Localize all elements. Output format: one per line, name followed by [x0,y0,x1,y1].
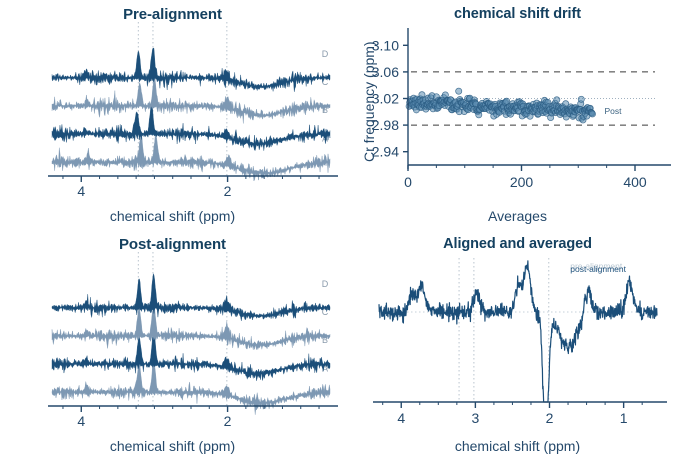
panel-aligned-and-averaged: Aligned and averaged pre-alignmentpost-a… [345,230,690,460]
scatter-points [406,88,596,123]
plot-post-alignment: ABCD42 [0,230,345,430]
plot-pre-alignment: ABCD42 [0,0,345,200]
x-tick-label: 4 [397,410,405,426]
panel-pre-alignment: Pre-alignment ABCD42 chemical shift (ppm… [0,0,345,230]
scatter-point [554,97,560,103]
averaged-spectrum-trace [379,261,657,402]
x-axis-title-drift: Averages [345,208,690,224]
panel-chemical-shift-drift: chemical shift drift Post2.942.983.023.0… [345,0,690,230]
panel-post-alignment: Post-alignment ABCD42 chemical shift (pp… [0,230,345,460]
mrs-alignment-figure: Pre-alignment ABCD42 chemical shift (ppm… [0,0,690,460]
plot-chemical-shift-drift: Post2.942.983.023.063.100200400 [345,0,690,200]
x-tick-label: 0 [404,174,412,190]
x-tick-label: 4 [77,413,85,429]
scatter-point [456,88,462,94]
x-tick-label: 2 [546,410,554,426]
annotation-post-alignment: post-alignment [570,264,626,274]
x-axis-title-pre: chemical shift (ppm) [0,208,345,224]
x-axis-title-post: chemical shift (ppm) [0,438,345,454]
scatter-point [589,111,595,117]
scatter-point [578,96,584,102]
x-tick-label: 2 [224,413,232,429]
x-tick-label: 2 [224,183,232,199]
x-tick-label: 400 [623,174,647,190]
x-tick-label: 3 [471,410,479,426]
spectrum-trace-D [52,274,330,321]
x-axis-title-averaged: chemical shift (ppm) [345,438,690,454]
x-tick-label: 4 [77,183,85,199]
y-axis-title-drift: Cr frequency (ppm) [361,41,377,162]
spectrum-trace-A [52,134,330,181]
series-label-post: Post [604,106,622,116]
spectrum-trace-D [52,48,330,92]
x-tick-label: 1 [620,410,628,426]
plot-aligned-and-averaged: pre-alignmentpost-alignment4321 [345,230,690,430]
x-tick-label: 200 [510,174,534,190]
spectrum-trace-C [52,77,330,123]
trace-label-D: D [322,49,329,59]
trace-label-D: D [322,279,329,289]
